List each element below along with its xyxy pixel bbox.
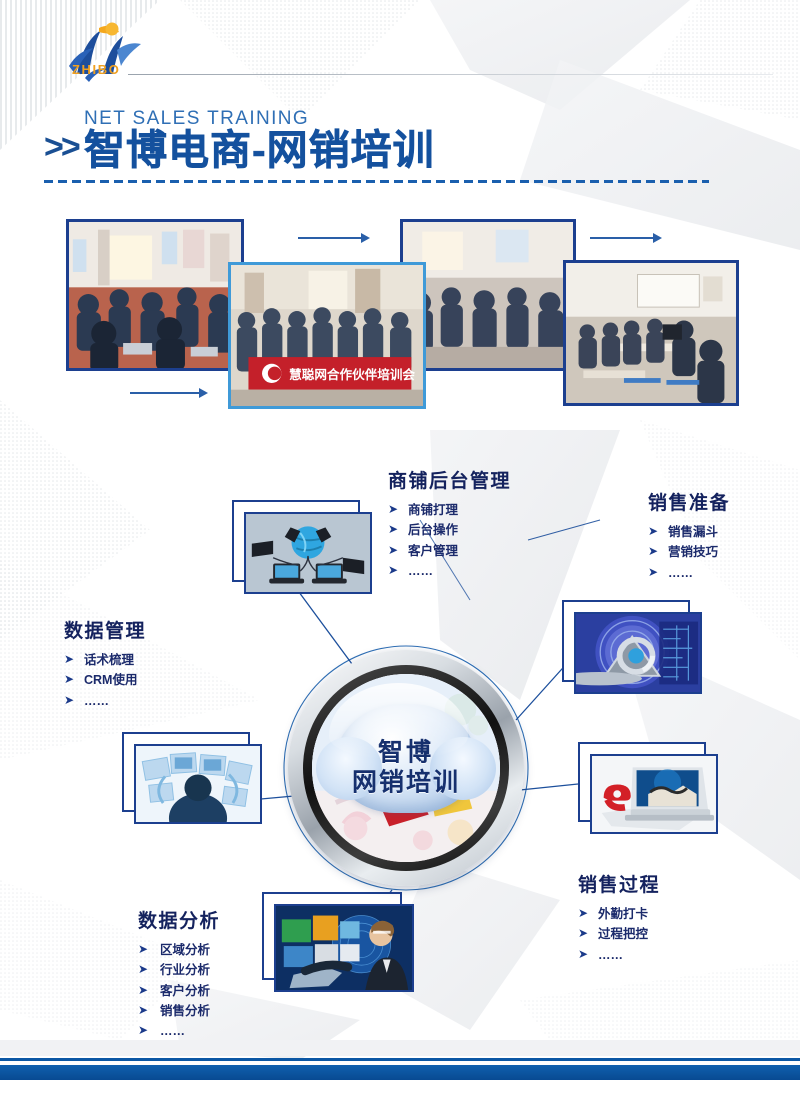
list-item: ➤客户管理: [388, 541, 511, 561]
chevron-icon: >>: [44, 130, 78, 164]
section-sales-process: 销售过程 ➤外勤打卡 ➤过程把控 ➤……: [578, 870, 660, 965]
hub-label-line2: 网销培训: [312, 768, 500, 798]
hub-face: 智博 网销培训: [312, 674, 500, 862]
list-item: ➤……: [648, 563, 730, 583]
arrow-right-icon-3: [130, 388, 208, 398]
section-list-prep: ➤销售漏斗 ➤营销技巧 ➤……: [648, 522, 730, 583]
svg-text:慧聪网合作伙伴培训会: 慧聪网合作伙伴培训会: [289, 367, 415, 382]
bullet-icon: ➤: [388, 520, 398, 539]
node-ecommerce-handshake-laptop: [578, 742, 706, 822]
bullet-icon: ➤: [388, 500, 398, 519]
list-item: ➤销售漏斗: [648, 522, 730, 542]
bullet-icon: ➤: [388, 561, 398, 580]
node-at-symbol-laptop: [562, 600, 690, 682]
header-divider: [128, 74, 773, 75]
list-item: ➤后台操作: [388, 520, 511, 540]
title-dashed-rule: [44, 180, 709, 183]
logo-wordmark: ZHIBO: [72, 62, 120, 77]
bullet-icon: ➤: [578, 945, 588, 964]
list-item: ➤销售分析: [138, 1001, 220, 1021]
section-sales-preparation: 销售准备 ➤销售漏斗 ➤营销技巧 ➤……: [648, 488, 730, 583]
section-data-analysis: 数据分析 ➤区域分析 ➤行业分析 ➤客户分析 ➤销售分析 ➤……: [138, 906, 220, 1041]
bullet-icon: ➤: [578, 904, 588, 923]
list-item: ➤客户分析: [138, 981, 220, 1001]
bullet-icon: ➤: [648, 563, 658, 582]
list-item: ➤……: [64, 691, 146, 711]
page-header: ZHIBO: [0, 0, 800, 100]
bullet-icon: ➤: [64, 670, 74, 689]
list-item: ➤商铺打理: [388, 500, 511, 520]
list-item: ➤CRM使用: [64, 670, 146, 690]
bullet-icon: ➤: [64, 650, 74, 669]
list-item: ➤……: [388, 561, 511, 581]
bullet-icon: ➤: [138, 1001, 148, 1020]
section-data-management: 数据管理 ➤话术梳理 ➤CRM使用 ➤……: [64, 616, 146, 711]
bullet-icon: ➤: [648, 522, 658, 541]
list-item: ➤过程把控: [578, 924, 660, 944]
arrow-right-icon-2: [590, 233, 662, 243]
list-item: ➤外勤打卡: [578, 904, 660, 924]
list-item: ➤行业分析: [138, 960, 220, 980]
footer-bar-thin: [0, 1058, 800, 1061]
section-list-shop: ➤商铺打理 ➤后台操作 ➤客户管理 ➤……: [388, 500, 511, 581]
photo-group-with-banner: 慧聪网合作伙伴培训会: [228, 262, 426, 409]
section-title-prep: 销售准备: [648, 488, 730, 515]
zhibo-logo: [55, 16, 165, 88]
list-item: ➤区域分析: [138, 940, 220, 960]
bullet-icon: ➤: [648, 542, 658, 561]
section-title-data: 数据管理: [64, 616, 146, 643]
section-list-data: ➤话术梳理 ➤CRM使用 ➤……: [64, 650, 146, 711]
node-floating-screens-person: [122, 732, 250, 812]
photo-training-room-audience: [66, 219, 244, 371]
section-title-analysis: 数据分析: [138, 906, 220, 933]
list-item: ➤营销技巧: [648, 542, 730, 562]
central-hub: 智博 网销培训: [288, 650, 524, 886]
hub-label: 智博 网销培训: [312, 739, 500, 798]
node-touchscreen-businesswoman: [262, 892, 402, 980]
section-title-shop: 商铺后台管理: [388, 466, 511, 493]
section-list-process: ➤外勤打卡 ➤过程把控 ➤……: [578, 904, 660, 965]
hub-label-line1: 智博: [312, 739, 500, 769]
arrow-right-icon-1: [298, 233, 370, 243]
page-title: 智博电商-网销培训: [84, 128, 435, 173]
bullet-icon: ➤: [578, 924, 588, 943]
bullet-icon: ➤: [138, 960, 148, 979]
footer-bar-thick: [0, 1065, 800, 1080]
photo-classroom-session: [563, 260, 739, 406]
page-footer: [0, 1034, 800, 1094]
node-network-laptops-globe: [232, 500, 360, 582]
bullet-icon: ➤: [388, 541, 398, 560]
bullet-icon: ➤: [138, 940, 148, 959]
section-list-analysis: ➤区域分析 ➤行业分析 ➤客户分析 ➤销售分析 ➤……: [138, 940, 220, 1041]
section-shop-backend: 商铺后台管理 ➤商铺打理 ➤后台操作 ➤客户管理 ➤……: [388, 466, 511, 581]
bullet-icon: ➤: [64, 691, 74, 710]
list-item: ➤话术梳理: [64, 650, 146, 670]
bullet-icon: ➤: [138, 981, 148, 1000]
section-title-process: 销售过程: [578, 870, 660, 897]
photo-training-room-secondary: [400, 219, 576, 371]
list-item: ➤……: [578, 945, 660, 965]
